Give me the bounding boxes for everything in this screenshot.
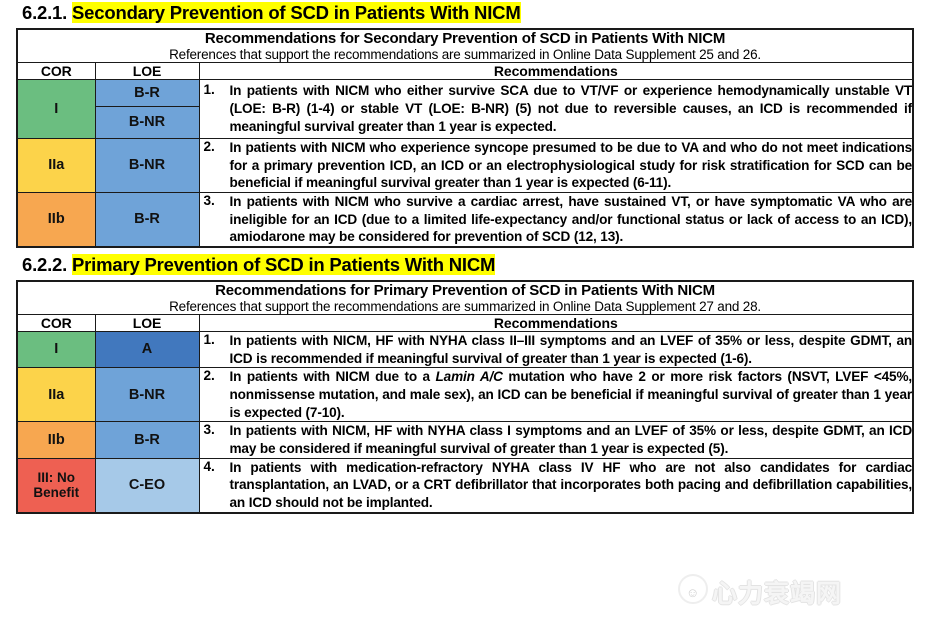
recommendation-text: In patients with NICM, HF with NYHA clas… — [230, 422, 913, 457]
table-subtitle: References that support the recommendati… — [17, 299, 913, 315]
table-title-row: Recommendations for Primary Prevention o… — [17, 281, 913, 299]
loe-badge: B-NR — [95, 368, 199, 422]
watermark-logo-icon: ☺ — [678, 574, 708, 604]
recommendation-text: In patients with NICM who experience syn… — [230, 139, 913, 192]
table-row: IIa B-NR 2. In patients with NICM who ex… — [17, 139, 913, 193]
recommendation-text: In patients with NICM, HF with NYHA clas… — [230, 332, 913, 367]
recommendation-number: 2. — [200, 139, 230, 154]
section-title: Primary Prevention of SCD in Patients Wi… — [72, 254, 495, 275]
cor-badge: IIb — [17, 193, 95, 248]
recommendation-cell: 2. In patients with NICM who experience … — [199, 139, 913, 193]
table-row: I B-R 1. In patients with NICM who eithe… — [17, 80, 913, 107]
table-subtitle: References that support the recommendati… — [17, 47, 913, 63]
section-number: 6.2.1. — [22, 2, 67, 23]
recommendation-number: 3. — [200, 193, 230, 208]
recommendations-table-primary-prevention: Recommendations for Primary Prevention o… — [16, 280, 914, 514]
recommendation-cell: 3. In patients with NICM, HF with NYHA c… — [199, 422, 913, 458]
cor-badge: IIa — [17, 368, 95, 422]
recommendation-cell: 4. In patients with medication-refractor… — [199, 458, 913, 513]
loe-badge: C-EO — [95, 458, 199, 513]
cor-badge: IIa — [17, 139, 95, 193]
recommendation-cell: 3. In patients with NICM who survive a c… — [199, 193, 913, 248]
section-title: Secondary Prevention of SCD in Patients … — [72, 2, 520, 23]
watermark-text: 心力衰竭网 — [712, 574, 842, 610]
table-title: Recommendations for Primary Prevention o… — [17, 281, 913, 299]
recommendation-number: 1. — [200, 82, 230, 97]
column-header-recommendations: Recommendations — [199, 315, 913, 332]
section-heading-621: 6.2.1. Secondary Prevention of SCD in Pa… — [0, 0, 925, 28]
recommendations-table-secondary-prevention: Recommendations for Secondary Prevention… — [16, 28, 914, 248]
cor-badge: I — [17, 80, 95, 139]
table-row: I A 1. In patients with NICM, HF with NY… — [17, 332, 913, 368]
cor-badge: IIb — [17, 422, 95, 458]
recommendation-number: 4. — [200, 459, 230, 474]
recommendation-number: 3. — [200, 422, 230, 437]
recommendation-cell: 1. In patients with NICM, HF with NYHA c… — [199, 332, 913, 368]
table-row: III: No Benefit C-EO 4. In patients with… — [17, 458, 913, 513]
watermark-overlay: ☺ 心力衰竭网 — [678, 566, 908, 612]
table-subtitle-row: References that support the recommendati… — [17, 47, 913, 63]
recommendation-text: In patients with NICM who survive a card… — [230, 193, 913, 246]
column-header-cor: COR — [17, 63, 95, 80]
recommendation-text: In patients with NICM due to a Lamin A/C… — [230, 368, 913, 421]
loe-badge: B-R — [95, 422, 199, 458]
document-page: 6.2.1. Secondary Prevention of SCD in Pa… — [0, 0, 925, 640]
cor-badge: III: No Benefit — [17, 458, 95, 513]
recommendation-text: In patients with medication-refractory N… — [230, 459, 913, 512]
table-row: IIb B-R 3. In patients with NICM who sur… — [17, 193, 913, 248]
loe-badge: B-R — [95, 193, 199, 248]
smiley-face-icon: ☺ — [686, 586, 699, 599]
loe-badge: A — [95, 332, 199, 368]
table-title: Recommendations for Secondary Prevention… — [17, 29, 913, 47]
table-row: IIb B-R 3. In patients with NICM, HF wit… — [17, 422, 913, 458]
loe-badge: B-NR — [95, 139, 199, 193]
cor-badge: I — [17, 332, 95, 368]
section-number: 6.2.2. — [22, 254, 67, 275]
table-subtitle-row: References that support the recommendati… — [17, 299, 913, 315]
table-title-row: Recommendations for Secondary Prevention… — [17, 29, 913, 47]
column-header-recommendations: Recommendations — [199, 63, 913, 80]
table-column-header-row: COR LOE Recommendations — [17, 315, 913, 332]
column-header-loe: LOE — [95, 315, 199, 332]
recommendation-text: In patients with NICM who either survive… — [230, 82, 913, 135]
recommendation-cell: 1. In patients with NICM who either surv… — [199, 80, 913, 139]
table-column-header-row: COR LOE Recommendations — [17, 63, 913, 80]
section-heading-622: 6.2.2. Primary Prevention of SCD in Pati… — [0, 252, 925, 280]
column-header-cor: COR — [17, 315, 95, 332]
recommendation-cell: 2. In patients with NICM due to a Lamin … — [199, 368, 913, 422]
table-row: IIa B-NR 2. In patients with NICM due to… — [17, 368, 913, 422]
recommendation-number: 2. — [200, 368, 230, 383]
recommendation-number: 1. — [200, 332, 230, 347]
column-header-loe: LOE — [95, 63, 199, 80]
loe-badge: B-NR — [95, 107, 199, 139]
loe-badge: B-R — [95, 80, 199, 107]
